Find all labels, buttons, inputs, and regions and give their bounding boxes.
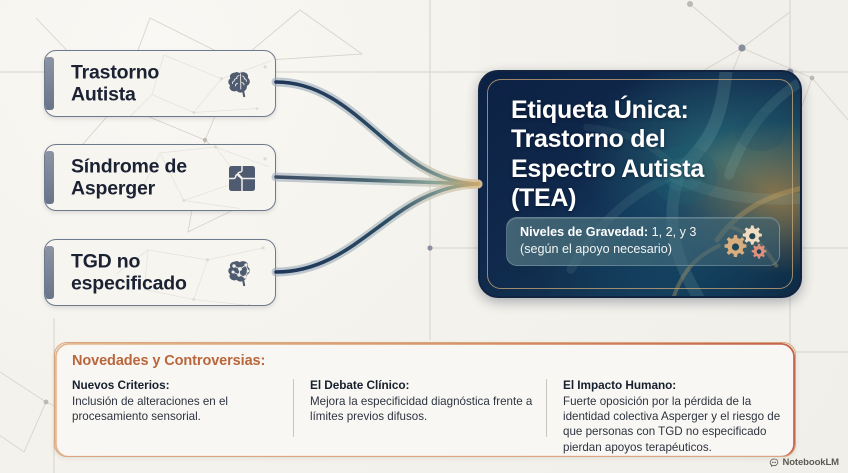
source-card-label: Trastorno Autista xyxy=(71,61,159,106)
brain-network-icon xyxy=(222,253,262,293)
panel-column-el-debate-clinico: El Debate Clínico: Mejora la especificid… xyxy=(310,378,540,424)
column-heading: El Debate Clínico: xyxy=(310,378,540,392)
source-card-label: Síndrome de Asperger xyxy=(71,155,187,200)
source-card-sindrome-de-asperger[interactable]: Síndrome de Asperger xyxy=(44,144,276,211)
column-divider xyxy=(546,379,547,437)
severity-values: 1, 2, y 3 xyxy=(648,225,696,239)
column-heading: El Impacto Humano: xyxy=(563,378,795,392)
source-card-trastorno-autista[interactable]: Trastorno Autista xyxy=(44,50,276,117)
gears-icon xyxy=(710,222,770,262)
column-body: Mejora la especificidad diagnóstica fren… xyxy=(310,394,540,424)
main-node-tea[interactable]: Etiqueta Única: Trastorno del Espectro A… xyxy=(478,70,802,298)
puzzle-icon xyxy=(222,158,262,198)
source-card-label: TGD no especificado xyxy=(71,250,187,295)
panel-title: Novedades y Controversias: xyxy=(72,353,265,369)
panel-column-el-impacto-humano: El Impacto Humano: Fuerte oposición por … xyxy=(563,378,795,455)
severity-label: Niveles de Gravedad: xyxy=(520,225,648,239)
column-body: Inclusión de alteraciones en el procesam… xyxy=(72,394,287,424)
main-node-title: Etiqueta Única: Trastorno del Espectro A… xyxy=(511,96,704,213)
column-body: Fuerte oposición por la pérdida de la id… xyxy=(563,394,795,455)
column-heading: Nuevos Criterios: xyxy=(72,378,287,392)
severity-levels-box[interactable]: Niveles de Gravedad: 1, 2, y 3 (según el… xyxy=(506,217,780,266)
severity-note: (según el apoyo necesario) xyxy=(520,241,696,258)
panel-column-nuevos-criterios: Nuevos Criterios: Inclusión de alteracio… xyxy=(72,378,287,424)
novelties-controversies-panel[interactable]: Novedades y Controversias: Nuevos Criter… xyxy=(54,342,796,457)
column-divider xyxy=(293,379,294,437)
brain-icon xyxy=(222,64,262,104)
notebooklm-icon xyxy=(769,458,779,468)
watermark-label: NotebookLM xyxy=(782,457,839,468)
notebooklm-watermark: NotebookLM xyxy=(769,457,839,468)
source-card-tgd-no-especificado[interactable]: TGD no especificado xyxy=(44,239,276,306)
severity-levels-text: Niveles de Gravedad: 1, 2, y 3 (según el… xyxy=(520,224,696,259)
infographic-canvas: Trastorno Autista xyxy=(0,0,848,473)
